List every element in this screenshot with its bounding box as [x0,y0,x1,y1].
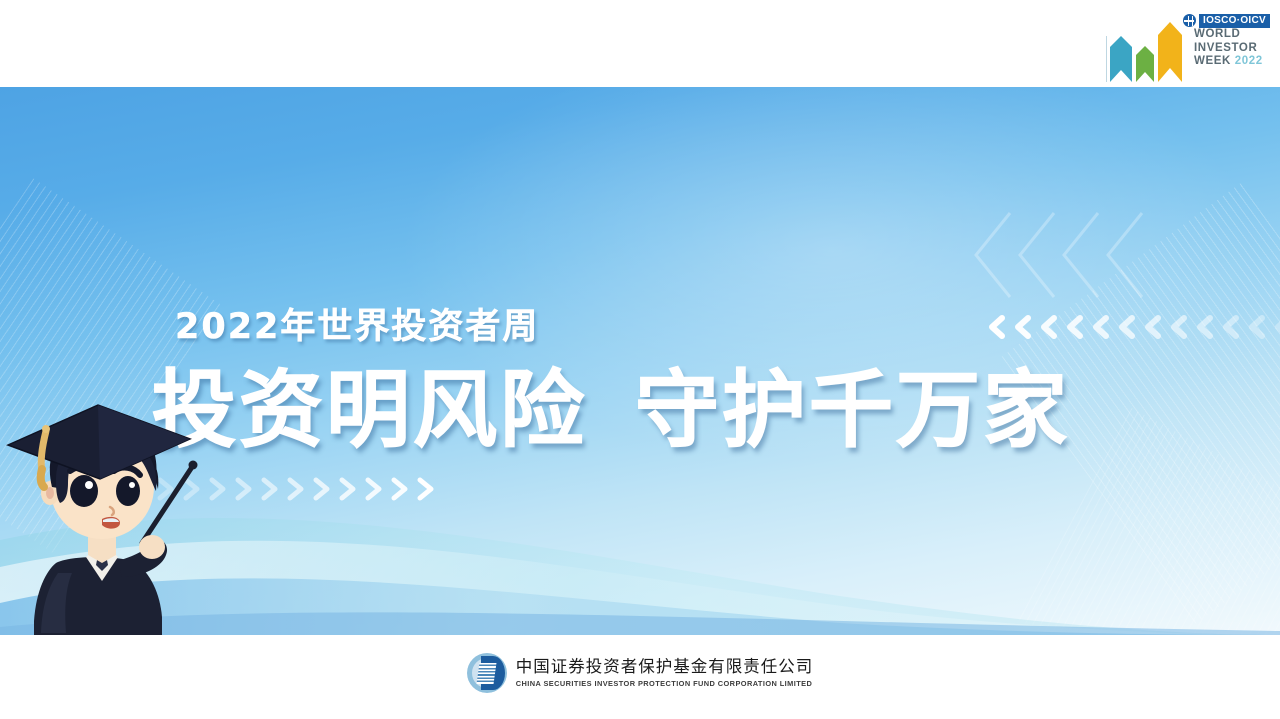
campaign-line-investor: INVESTOR [1194,42,1263,56]
world-investor-week-logo: IOSCO·OICV [1098,4,1274,84]
campaign-line-week: WEEK 2022 [1194,55,1263,69]
sipf-footer-logo: 中国证券投资者保护基金有限责任公司 CHINA SECURITIES INVES… [0,653,1280,693]
pencil-yellow [1158,22,1182,82]
chevron-strip-left-pointing [988,315,1280,339]
sipf-logo-icon [467,653,507,693]
graduate-mascot [0,395,209,635]
world-investor-week-poster: 2022年世界投资者周 投资明风险守护千万家 [0,0,1280,719]
iosco-label: IOSCO·OICV [1199,14,1270,28]
three-pencils-icon [1104,20,1188,82]
poster-subtitle: 2022年世界投资者周 [175,298,539,349]
headline-left-phrase: 投资明风险 [152,361,587,459]
campaign-title: WORLD INVESTOR WEEK 2022 [1194,28,1263,69]
iosco-badge: IOSCO·OICV [1183,13,1270,28]
poster-headline: 投资明风险守护千万家 [152,362,1070,458]
sipf-stripes [476,663,496,684]
organization-name-en: CHINA SECURITIES INVESTOR PROTECTION FUN… [516,679,814,689]
campaign-year: 2022 [1235,55,1263,67]
campaign-week-label: WEEK [1194,55,1231,67]
headline-right-phrase: 守护千万家 [635,361,1070,459]
pencil-green [1136,46,1154,82]
poster-background: 2022年世界投资者周 投资明风险守护千万家 [0,87,1280,635]
bottom-white-bar: 中国证券投资者保护基金有限责任公司 CHINA SECURITIES INVES… [0,635,1280,719]
organization-name-cn: 中国证券投资者保护基金有限责任公司 [516,658,814,677]
pencil-baseline-rule [1106,36,1107,82]
large-chevron-outline-decoration [968,207,1158,303]
top-white-bar: IOSCO·OICV [0,0,1280,87]
sipf-text-block: 中国证券投资者保护基金有限责任公司 CHINA SECURITIES INVES… [516,658,814,689]
campaign-line-world: WORLD [1194,28,1263,42]
mortarboard-cap [8,405,190,487]
pencil-teal [1110,36,1132,82]
